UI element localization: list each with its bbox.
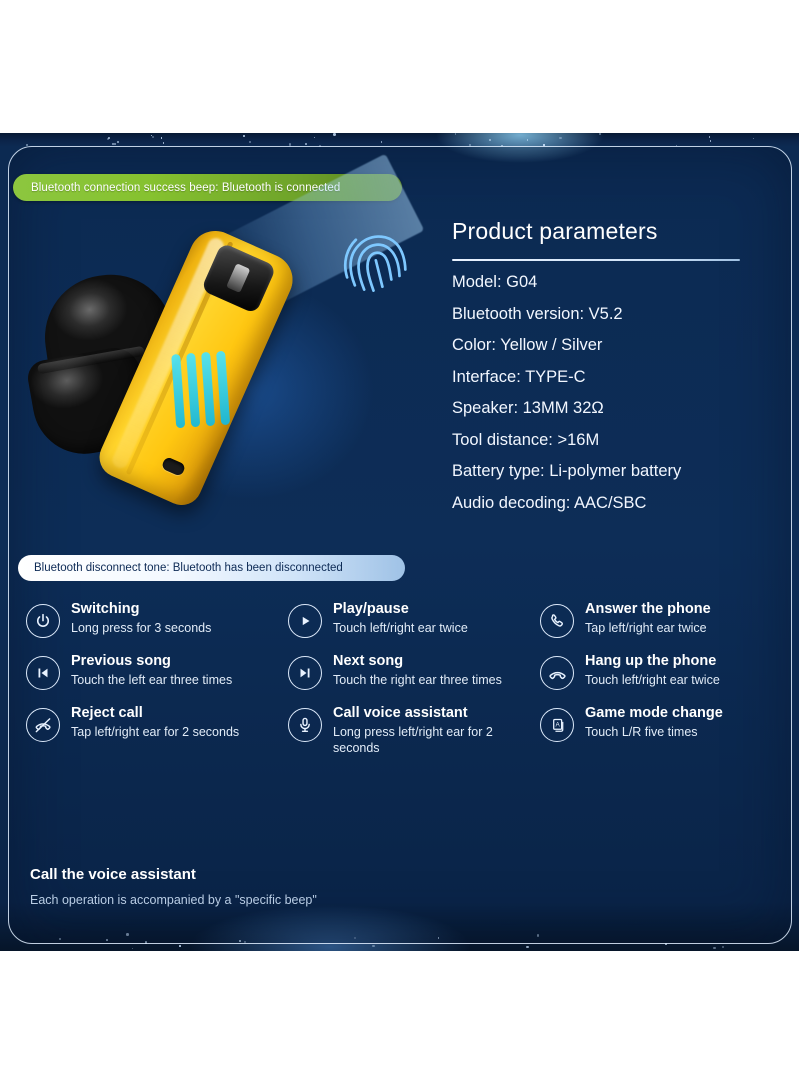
parameter-row: Model: G04 xyxy=(452,274,762,291)
phone-answer-icon xyxy=(540,604,574,638)
parameter-row: Tool distance: >16M xyxy=(452,432,762,449)
feature-row: Reject callTap left/right ear for 2 seco… xyxy=(26,704,776,756)
title-underline xyxy=(452,259,740,261)
reject-call-icon xyxy=(26,708,60,742)
feature-title: Play/pause xyxy=(333,600,468,618)
bluetooth-disconnect-banner: Bluetooth disconnect tone: Bluetooth has… xyxy=(18,555,405,581)
parameter-row: Bluetooth version: V5.2 xyxy=(452,306,762,323)
feature-row: Previous songTouch the left ear three ti… xyxy=(26,652,776,690)
feature-title: Hang up the phone xyxy=(585,652,720,670)
feature-item: Play/pauseTouch left/right ear twice xyxy=(288,600,540,638)
parameter-row: Speaker: 13MM 32Ω xyxy=(452,400,762,417)
feature-text: Play/pauseTouch left/right ear twice xyxy=(333,600,468,636)
product-parameters-section: Product parameters Model: G04Bluetooth v… xyxy=(452,218,762,526)
feature-description: Touch left/right ear twice xyxy=(333,620,468,636)
product-parameters-title: Product parameters xyxy=(452,218,762,245)
feature-description: Tap left/right ear for 2 seconds xyxy=(71,724,239,740)
parameter-row: Audio decoding: AAC/SBC xyxy=(452,495,762,512)
feature-description: Touch L/R five times xyxy=(585,724,723,740)
feature-row: SwitchingLong press for 3 secondsPlay/pa… xyxy=(26,600,776,638)
bluetooth-connect-text: Bluetooth connection success beep: Bluet… xyxy=(13,182,340,194)
next-track-icon xyxy=(288,656,322,690)
feature-description: Tap left/right ear twice xyxy=(585,620,711,636)
feature-description: Long press left/right ear for 2 seconds xyxy=(333,724,523,756)
feature-text: Hang up the phoneTouch left/right ear tw… xyxy=(585,652,720,688)
sensor-window xyxy=(226,263,250,293)
feature-item: Reject callTap left/right ear for 2 seco… xyxy=(26,704,288,756)
feature-description: Touch the right ear three times xyxy=(333,672,502,688)
product-image xyxy=(25,215,425,545)
feature-item: Next songTouch the right ear three times xyxy=(288,652,540,690)
parameter-row: Battery type: Li-polymer battery xyxy=(452,463,762,480)
footer-note: Each operation is accompanied by a "spec… xyxy=(30,893,317,907)
feature-item: Call voice assistantLong press left/righ… xyxy=(288,704,540,756)
feature-item: Answer the phoneTap left/right ear twice xyxy=(540,600,776,638)
feature-title: Game mode change xyxy=(585,704,723,722)
feature-item: SwitchingLong press for 3 seconds xyxy=(26,600,288,638)
feature-text: SwitchingLong press for 3 seconds xyxy=(71,600,211,636)
feature-title: Previous song xyxy=(71,652,232,670)
feature-text: Reject callTap left/right ear for 2 seco… xyxy=(71,704,239,740)
charging-port xyxy=(161,456,186,477)
svg-text:A: A xyxy=(555,721,560,728)
feature-text: Answer the phoneTap left/right ear twice xyxy=(585,600,711,636)
feature-text: Next songTouch the right ear three times xyxy=(333,652,502,688)
feature-description: Long press for 3 seconds xyxy=(71,620,211,636)
feature-title: Call voice assistant xyxy=(333,704,523,722)
feature-text: Call voice assistantLong press left/righ… xyxy=(333,704,523,756)
feature-text: Game mode changeTouch L/R five times xyxy=(585,704,723,740)
feature-title: Switching xyxy=(71,600,211,618)
microphone-icon xyxy=(288,708,322,742)
feature-item: AGame mode changeTouch L/R five times xyxy=(540,704,776,756)
play-pause-icon xyxy=(288,604,322,638)
phone-hangup-icon xyxy=(540,656,574,690)
feature-description: Touch the left ear three times xyxy=(71,672,232,688)
product-parameters-list: Model: G04Bluetooth version: V5.2Color: … xyxy=(452,274,762,511)
feature-description: Touch left/right ear twice xyxy=(585,672,720,688)
footer-section: Call the voice assistant Each operation … xyxy=(30,866,317,907)
feature-text: Previous songTouch the left ear three ti… xyxy=(71,652,232,688)
parameter-row: Color: Yellow / Silver xyxy=(452,337,762,354)
feature-title: Next song xyxy=(333,652,502,670)
power-icon xyxy=(26,604,60,638)
footer-title: Call the voice assistant xyxy=(30,866,317,883)
feature-item: Hang up the phoneTouch left/right ear tw… xyxy=(540,652,776,690)
parameter-row: Interface: TYPE-C xyxy=(452,369,762,386)
feature-title: Answer the phone xyxy=(585,600,711,618)
feature-item: Previous songTouch the left ear three ti… xyxy=(26,652,288,690)
bluetooth-disconnect-text: Bluetooth disconnect tone: Bluetooth has… xyxy=(18,562,343,574)
previous-track-icon xyxy=(26,656,60,690)
feature-title: Reject call xyxy=(71,704,239,722)
feature-grid: SwitchingLong press for 3 secondsPlay/pa… xyxy=(26,600,776,770)
game-mode-icon: A xyxy=(540,708,574,742)
